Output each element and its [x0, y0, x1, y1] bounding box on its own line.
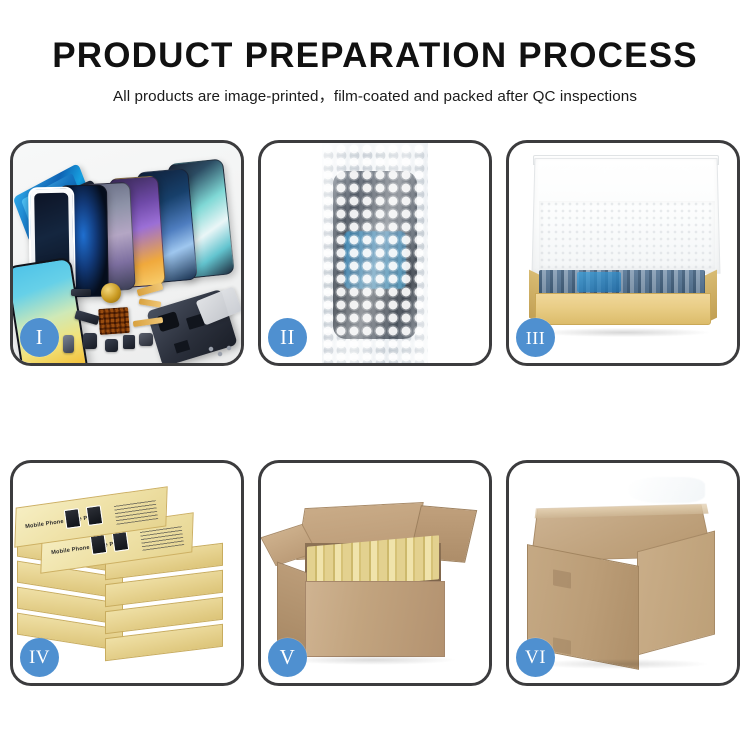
small-part-3-icon [83, 333, 97, 349]
step-panel-phone-screens-and-parts: I [10, 140, 244, 366]
step-badge-6: VI [516, 638, 555, 677]
mailer-shadow-icon [539, 328, 709, 337]
foam-liner-icon [539, 201, 715, 269]
small-part-5-icon [123, 335, 135, 349]
mailer-front-panel-icon [535, 293, 711, 325]
process-steps-grid: I II [10, 140, 740, 686]
step-panel-bubble-wrapped-screen: II [258, 140, 492, 366]
step-badge-4-label: IV [29, 648, 50, 667]
step-badge-5: V [268, 638, 307, 677]
carton-front-panel-icon [305, 581, 445, 657]
flex-cable-2-icon [139, 298, 162, 307]
battery-part-icon [63, 335, 74, 353]
product-preparation-process-page: PRODUCT PREPARATION PROCESS All products… [0, 0, 750, 750]
screws-icon [207, 345, 233, 361]
small-part-6-icon [139, 333, 153, 346]
carton-plastic-wrap-icon [629, 477, 705, 503]
step-panel-open-shipping-carton: V [258, 460, 492, 686]
step-badge-3: III [516, 318, 555, 357]
page-title: PRODUCT PREPARATION PROCESS [0, 36, 750, 75]
carton-handle-tab-1-icon [553, 569, 571, 588]
speaker-coil-part-icon [101, 283, 121, 303]
retail-box-top-1-screen-1 [64, 508, 81, 529]
chip-grid-part-icon [98, 307, 130, 335]
plastic-gloss-icon [322, 143, 428, 363]
sealed-carton-right-panel-icon [637, 531, 715, 656]
page-subtitle: All products are image-printed，film-coat… [0, 84, 750, 106]
carton-shadow-icon [287, 655, 457, 665]
step-badge-2-label: II [280, 327, 295, 348]
step-badge-4: IV [20, 638, 59, 677]
step-badge-2: II [268, 318, 307, 357]
step-badge-1: I [20, 318, 59, 357]
retail-box-top-2-screen-1 [90, 534, 107, 555]
sealed-carton-shadow-icon [535, 659, 707, 669]
step-badge-6-label: VI [525, 648, 546, 667]
step-panel-sealed-shipping-carton: VI [506, 460, 740, 686]
header: PRODUCT PREPARATION PROCESS All products… [0, 0, 750, 106]
step-badge-5-label: V [280, 647, 296, 668]
step-badge-3-label: III [526, 329, 545, 347]
small-part-1-icon [71, 289, 91, 296]
step-panel-stacked-retail-boxes: Mobile Phone Spare Parts Mobile Phone Sp… [10, 460, 244, 686]
step-badge-1-label: I [36, 327, 44, 348]
step-panel-open-mailer-box: III [506, 140, 740, 366]
retail-box-top-2-screen-2 [112, 531, 129, 552]
retail-box-top-1-screen-2 [86, 505, 103, 526]
small-part-4-icon [105, 339, 118, 352]
repair-tool-icon [196, 286, 241, 325]
